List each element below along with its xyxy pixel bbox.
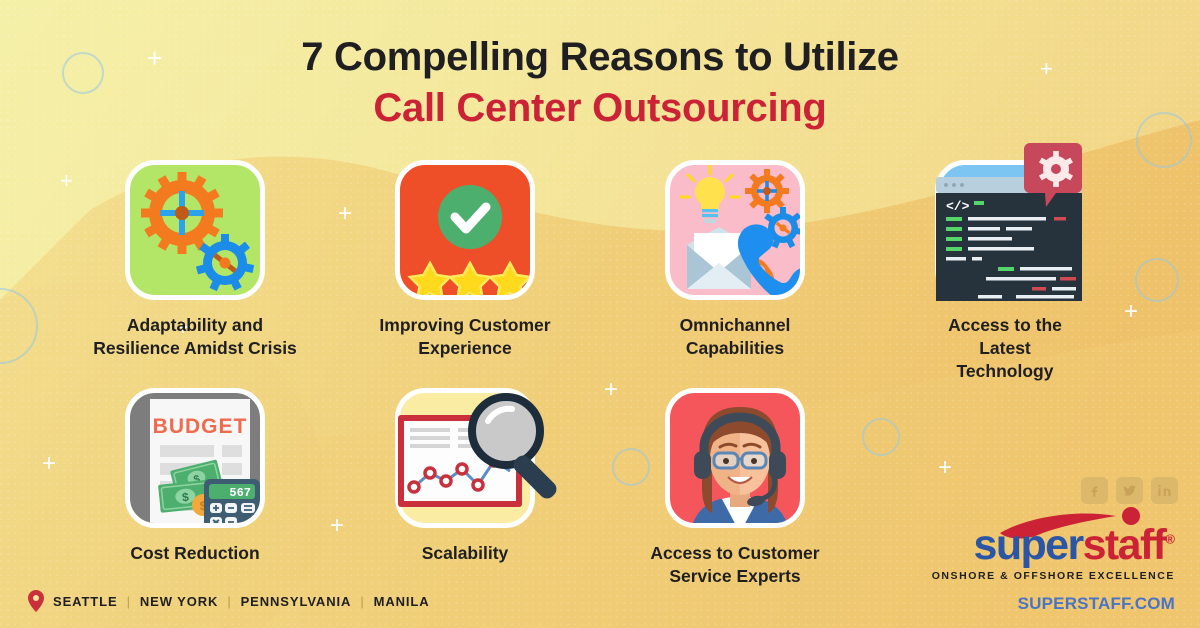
header: 7 Compelling Reasons to Utilize Call Cen… bbox=[0, 32, 1200, 134]
ring-decoration bbox=[1135, 258, 1179, 302]
reason-caption: Omnichannel Capabilities bbox=[680, 314, 791, 360]
twitter-icon[interactable] bbox=[1116, 477, 1143, 504]
budget-money-calculator-icon: BUDGET $ bbox=[130, 393, 260, 523]
reasons-row-1: Adaptability and Resilience Amidst Crisi… bbox=[60, 160, 1140, 383]
reason-caption-line: Omnichannel bbox=[680, 314, 791, 337]
location-pennsylvania[interactable]: PENNSYLVANIA bbox=[241, 594, 352, 609]
page-title-line-2: Call Center Outsourcing bbox=[0, 83, 1200, 134]
brand-name-super: super bbox=[974, 521, 1083, 569]
reason-tile bbox=[395, 160, 535, 300]
social-links bbox=[1081, 477, 1178, 504]
linkedin-icon[interactable] bbox=[1151, 477, 1178, 504]
plus-decoration bbox=[42, 452, 56, 476]
location-manila[interactable]: MANILA bbox=[374, 594, 430, 609]
locations-bar: SEATTLE | NEW YORK | PENNSYLVANIA | MANI… bbox=[28, 590, 430, 612]
location-seattle[interactable]: SEATTLE bbox=[53, 594, 118, 609]
reason-item-service-experts[interactable]: Access to Customer Service Experts bbox=[600, 388, 870, 588]
budget-title: BUDGET bbox=[153, 415, 248, 438]
reason-caption: Adaptability and Resilience Amidst Crisi… bbox=[93, 314, 297, 360]
location-new-york[interactable]: NEW YORK bbox=[140, 594, 218, 609]
reason-caption: Cost Reduction bbox=[130, 542, 259, 565]
reason-tile bbox=[395, 388, 535, 528]
reason-caption-line: Improving Customer bbox=[379, 314, 550, 337]
chart-magnifier-icon bbox=[384, 377, 560, 549]
reason-caption-line: Access to Customer bbox=[650, 542, 819, 565]
facebook-icon[interactable] bbox=[1081, 477, 1108, 504]
reason-caption-line: Cost Reduction bbox=[130, 542, 259, 565]
map-pin-icon bbox=[28, 590, 44, 612]
reason-caption: Access to Customer Service Experts bbox=[650, 542, 819, 588]
location-separator: | bbox=[360, 594, 364, 609]
location-list: SEATTLE | NEW YORK | PENNSYLVANIA | MANI… bbox=[53, 594, 430, 609]
brand-tagline: ONSHORE & OFFSHORE EXCELLENCE bbox=[915, 570, 1175, 582]
calculator-display: 567 bbox=[229, 486, 251, 500]
brand-name-staff: staff bbox=[1083, 521, 1166, 569]
reason-item-cost-reduction[interactable]: BUDGET $ bbox=[60, 388, 330, 588]
brand-logo[interactable]: superstaff® ONSHORE & OFFSHORE EXCELLENC… bbox=[915, 524, 1175, 582]
reason-caption-line: Capabilities bbox=[680, 337, 791, 360]
reason-tile bbox=[665, 388, 805, 528]
page-title-line-1: 7 Compelling Reasons to Utilize bbox=[0, 32, 1200, 83]
svg-text:</>: </> bbox=[946, 199, 970, 214]
infographic-canvas: 7 Compelling Reasons to Utilize Call Cen… bbox=[0, 0, 1200, 628]
reason-caption-line: Latest bbox=[948, 337, 1062, 360]
headset-agent-icon bbox=[670, 393, 800, 523]
reason-item-scalability[interactable]: Scalability bbox=[330, 388, 600, 588]
reason-caption: Improving Customer Experience bbox=[379, 314, 550, 360]
reason-caption-line: Service Experts bbox=[650, 565, 819, 588]
check-stars-rating-icon bbox=[400, 165, 530, 295]
reason-caption-line: Experience bbox=[379, 337, 550, 360]
reason-item-adaptability[interactable]: Adaptability and Resilience Amidst Crisi… bbox=[60, 160, 330, 383]
reason-item-customer-experience[interactable]: Improving Customer Experience bbox=[330, 160, 600, 383]
reason-item-omnichannel[interactable]: Omnichannel Capabilities bbox=[600, 160, 870, 383]
brand-wordmark: superstaff® bbox=[915, 524, 1175, 567]
reason-tile: BUDGET $ bbox=[125, 388, 265, 528]
location-separator: | bbox=[227, 594, 231, 609]
reason-tile bbox=[665, 160, 805, 300]
reasons-row-2: BUDGET $ bbox=[60, 388, 880, 588]
reason-caption-line: Technology bbox=[948, 360, 1062, 383]
envelope-phone-lightbulb-icon bbox=[670, 165, 800, 295]
registered-trademark: ® bbox=[1165, 532, 1175, 547]
reason-item-latest-technology[interactable]: </> bbox=[870, 160, 1140, 383]
location-separator: | bbox=[127, 594, 131, 609]
reason-caption-line: Resilience Amidst Crisis bbox=[93, 337, 297, 360]
reason-tile: </> bbox=[935, 160, 1075, 300]
gears-icon bbox=[130, 165, 260, 295]
reason-caption-line: Adaptability and bbox=[93, 314, 297, 337]
code-window-gear-icon: </> bbox=[926, 143, 1102, 323]
reason-tile bbox=[125, 160, 265, 300]
reason-caption: Access to the Latest Technology bbox=[948, 314, 1062, 383]
plus-decoration bbox=[938, 456, 952, 480]
website-url[interactable]: SUPERSTAFF.COM bbox=[1018, 594, 1175, 614]
